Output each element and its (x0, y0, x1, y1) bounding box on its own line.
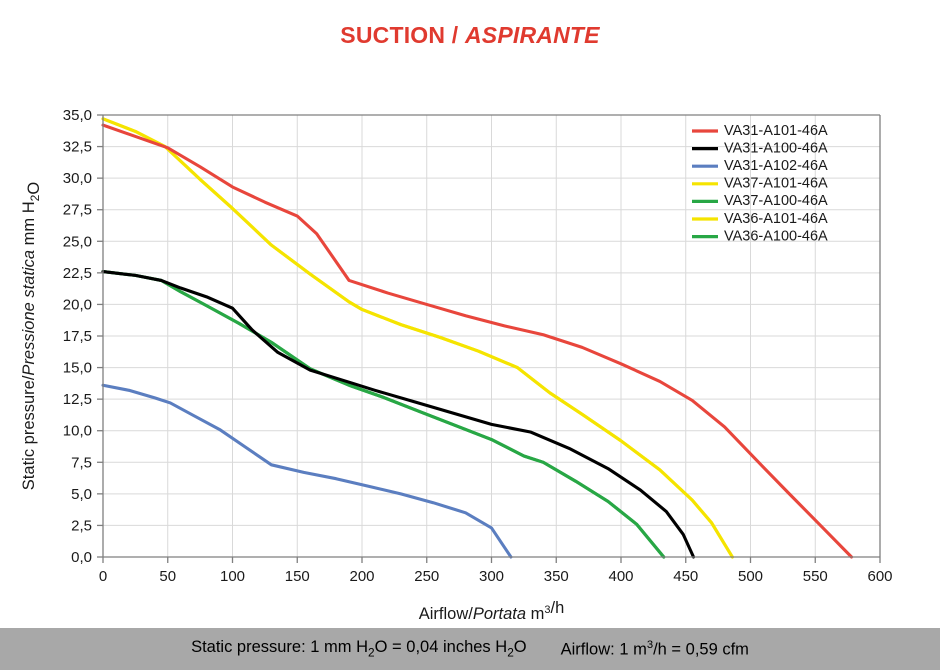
y-tick-label: 0,0 (71, 549, 92, 566)
y-tick-label: 35,0 (63, 107, 92, 124)
x-tick-label: 50 (159, 568, 176, 585)
legend-label-va37-a101-46a: VA37-A101-46A (724, 176, 828, 192)
y-tick-label: 17,5 (63, 328, 92, 345)
legend-label-va31-a101-46a: VA31-A101-46A (724, 123, 828, 139)
x-axis-title: Airflow/Portata m3/h (419, 599, 565, 623)
y-tick-label: 22,5 (63, 265, 92, 282)
footer-bar: Static pressure: 1 mm H2O = 0,04 inches … (0, 628, 940, 670)
x-tick-label: 600 (867, 568, 892, 585)
legend-label-va36-a101-46a: VA36-A101-46A (724, 211, 828, 227)
x-tick-label: 450 (673, 568, 698, 585)
x-tick-label: 350 (544, 568, 569, 585)
legend-label-va31-a100-46a: VA31-A100-46A (724, 140, 828, 156)
series-line-va36-a101-46a (103, 119, 732, 557)
y-tick-label: 27,5 (63, 202, 92, 219)
x-tick-label: 550 (803, 568, 828, 585)
y-tick-label: 10,0 (63, 423, 92, 440)
y-tick-label: 7,5 (71, 454, 92, 471)
legend-label-va36-a100-46a: VA36-A100-46A (724, 228, 828, 244)
x-tick-label: 250 (414, 568, 439, 585)
x-tick-label: 300 (479, 568, 504, 585)
x-tick-label: 200 (349, 568, 374, 585)
series-line-va37-a101-46a (103, 119, 732, 557)
y-tick-label: 5,0 (71, 486, 92, 503)
x-tick-label: 500 (738, 568, 763, 585)
x-tick-label: 0 (99, 568, 107, 585)
static-pressure-conversion: Static pressure: 1 mm H2O = 0,04 inches … (191, 638, 527, 659)
airflow-conversion: Airflow: 1 m3/h = 0,59 cfm (561, 639, 749, 660)
y-tick-label: 12,5 (63, 391, 92, 408)
plot-canvas: 0,02,55,07,510,012,515,017,520,022,525,0… (0, 0, 940, 628)
y-tick-label: 32,5 (63, 139, 92, 156)
suction-performance-chart: SUCTION / ASPIRANTE 0,02,55,07,510,012,5… (0, 0, 940, 670)
y-tick-label: 15,0 (63, 360, 92, 377)
legend-label-va31-a102-46a: VA31-A102-46A (724, 158, 828, 174)
y-tick-label: 2,5 (71, 517, 92, 534)
y-tick-label: 20,0 (63, 296, 92, 313)
x-tick-label: 100 (220, 568, 245, 585)
y-tick-label: 25,0 (63, 233, 92, 250)
footer-conversion-notes: Static pressure: 1 mm H2O = 0,04 inches … (0, 628, 940, 670)
legend-label-va37-a100-46a: VA37-A100-46A (724, 193, 828, 209)
x-tick-label: 400 (608, 568, 633, 585)
y-axis-title: Static pressure/Pressione statica mm H2O (20, 182, 43, 491)
y-tick-label: 30,0 (63, 170, 92, 187)
x-tick-label: 150 (285, 568, 310, 585)
